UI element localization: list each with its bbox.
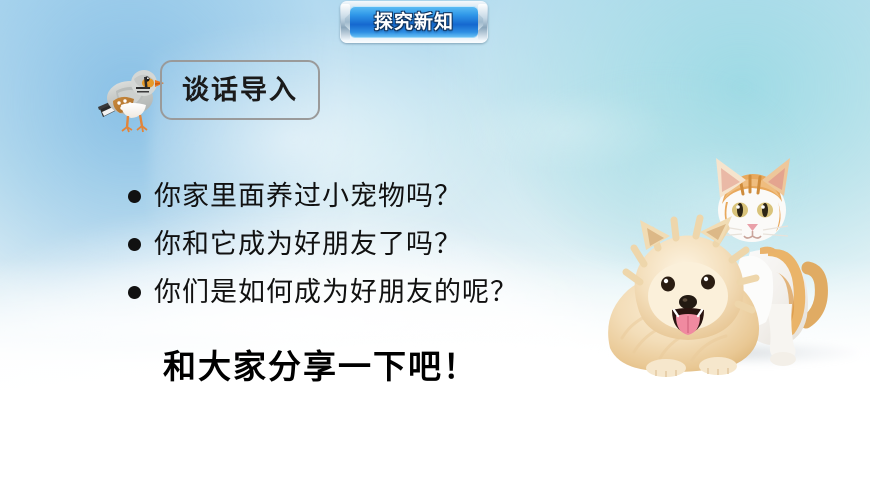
list-item: 你和它成为好朋友了吗？	[128, 228, 598, 276]
zebra-finch-bird-icon	[96, 57, 164, 135]
bullet-dot-icon	[128, 238, 141, 251]
bullet-dot-icon	[128, 190, 141, 203]
list-item: 你家里面养过小宠物吗？	[128, 180, 598, 228]
list-item-text: 你们是如何成为好朋友的呢？	[154, 276, 518, 310]
bullet-dot-icon	[128, 286, 141, 299]
list-item-text: 你和它成为好朋友了吗？	[154, 228, 462, 262]
title-banner: 探究新知	[340, 1, 488, 43]
list-item: 你们是如何成为好朋友的呢？	[128, 276, 598, 324]
banner-inner-plate: 探究新知	[350, 6, 478, 38]
section-label-box: 谈话导入	[160, 60, 320, 120]
slide: 探究新知	[0, 0, 870, 489]
section-label-text: 谈话导入	[182, 77, 298, 104]
emphasis-text: 和大家分享一下吧！	[163, 346, 478, 388]
dog-and-cat-image	[600, 132, 870, 384]
banner-title-text: 探究新知	[374, 13, 454, 32]
list-item-text: 你家里面养过小宠物吗？	[154, 180, 462, 214]
question-list: 你家里面养过小宠物吗？ 你和它成为好朋友了吗？ 你们是如何成为好朋友的呢？	[128, 180, 598, 324]
